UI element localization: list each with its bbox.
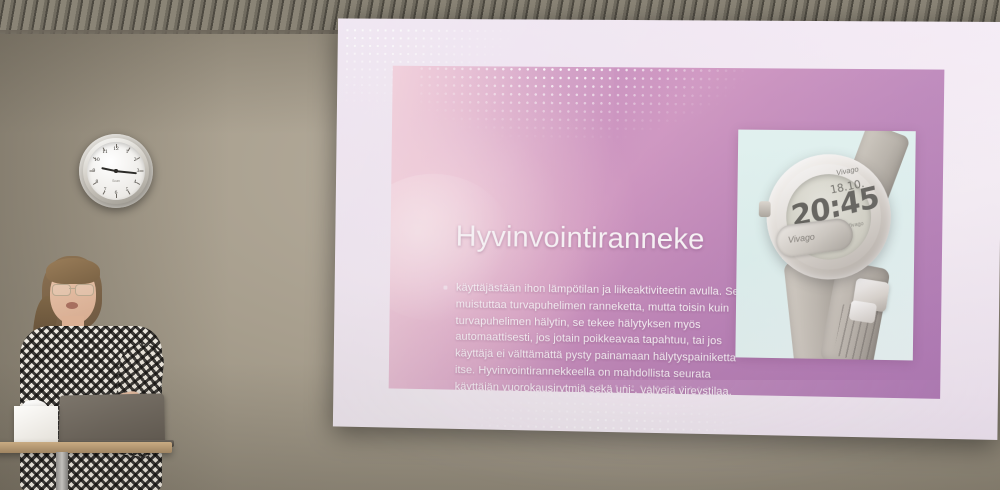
lens-right [75, 284, 94, 296]
clock-tick [90, 171, 94, 172]
clock-tick [140, 171, 144, 172]
watch-crown [759, 201, 771, 217]
clock-tick [116, 194, 117, 198]
mouth [66, 302, 78, 309]
clock-tick [128, 191, 131, 195]
clock-tick [136, 157, 140, 160]
slide-content-panel: Hyvinvointiranneke käyttäjästään ihon lä… [389, 66, 945, 399]
wall-clock: 12 1 2 3 4 5 6 7 8 9 10 11 Scan [79, 134, 153, 208]
clock-face: 12 1 2 3 4 5 6 7 8 9 10 11 Scan [87, 142, 145, 200]
podium-surface [0, 442, 172, 453]
projector-haze [300, 380, 1000, 490]
bullet-marker-icon [444, 286, 448, 290]
lens-left [52, 284, 71, 296]
eyeglasses [52, 284, 94, 294]
watch-buckle-inner [849, 300, 877, 324]
lecture-room-scene: 12 1 2 3 4 5 6 7 8 9 10 11 Scan [0, 0, 1000, 490]
slide-title: Hyvinvointiranneke [455, 221, 776, 257]
clock-minute-hand [116, 170, 137, 174]
slide-photo: Vivago 18.10. 20:45 Vivago Vivago [735, 130, 915, 361]
clock-center-pin [114, 169, 117, 172]
presenter [8, 252, 178, 490]
hair-front [46, 258, 100, 284]
clock-brand-label: Scan [112, 179, 120, 183]
presentation-slide: Hyvinvointiranneke käyttäjästään ihon lä… [333, 18, 1000, 439]
watch-button-label: Vivago [787, 232, 815, 245]
clock-tick [128, 147, 131, 151]
vivago-watch: Vivago 18.10. 20:45 Vivago Vivago [743, 134, 912, 359]
clock-tick [136, 182, 140, 185]
clock-tick [116, 144, 117, 148]
podium-stand [56, 452, 68, 490]
